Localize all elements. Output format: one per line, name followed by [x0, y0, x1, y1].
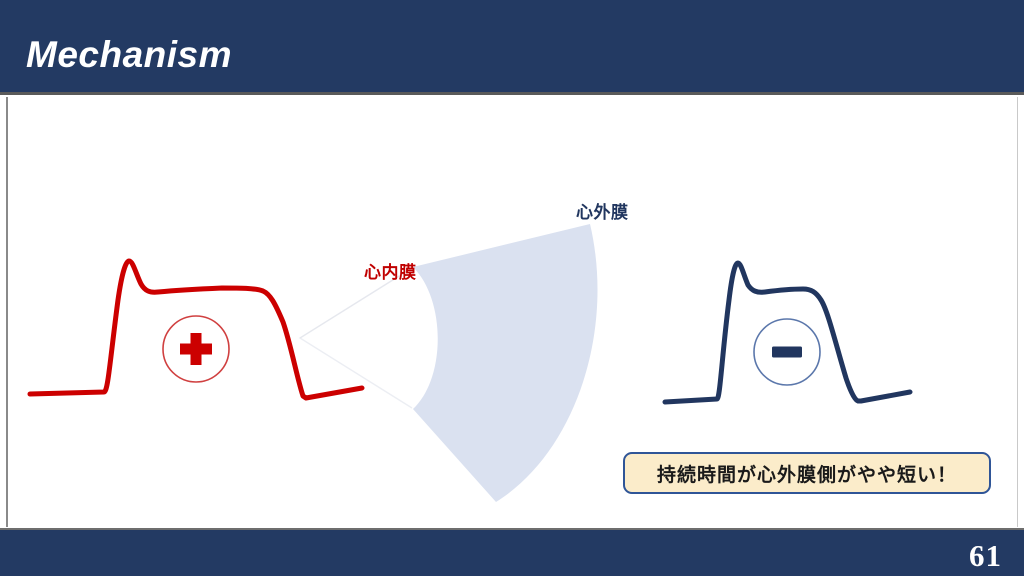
page-number: 61: [969, 538, 1002, 574]
header-divider-rule: [0, 92, 1024, 95]
label-epicardium: 心外膜: [576, 198, 629, 223]
callout-text: 持続時間が心外膜側がやや短い！: [657, 460, 957, 487]
footer-bar: [0, 530, 1024, 576]
callout-box: 持続時間が心外膜側がやや短い！: [623, 452, 991, 494]
page-title: Mechanism: [26, 34, 232, 76]
slide-root: Mechanism 心内膜 心外膜: [0, 0, 1024, 576]
label-endocardium: 心内膜: [364, 258, 417, 283]
